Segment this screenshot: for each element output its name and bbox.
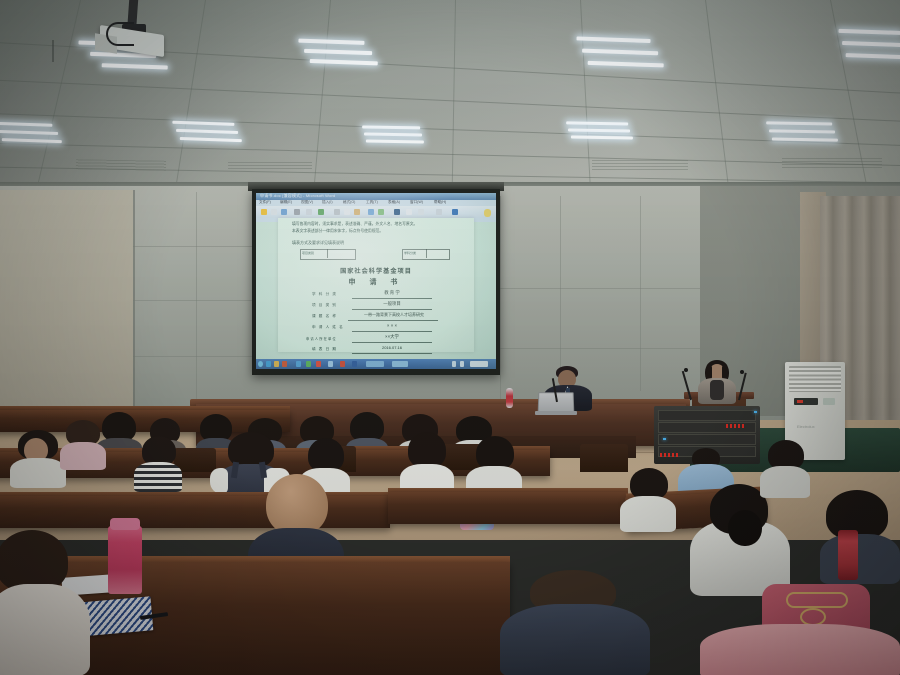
start-button-icon[interactable] bbox=[258, 361, 263, 367]
wall-seam bbox=[196, 192, 197, 432]
person-torso bbox=[700, 624, 900, 675]
bottle-cap bbox=[110, 518, 140, 530]
doc-paragraph-1: 填写各项内容时，须实事求是，表述准确、严谨。外文人名、地名写原文。 bbox=[292, 222, 462, 227]
tray-icon-volume[interactable] bbox=[460, 361, 464, 367]
person-hair bbox=[0, 530, 68, 592]
person-hair bbox=[408, 432, 446, 468]
print-icon[interactable] bbox=[294, 209, 300, 215]
ceiling-light-panel bbox=[362, 125, 428, 146]
form-box-left-label: 项目类别 bbox=[302, 251, 314, 255]
person-torso bbox=[620, 496, 676, 532]
word-title-bar: 申请书.doc [兼容模式] - Microsoft Word bbox=[256, 193, 496, 200]
taskbar-icon-app[interactable] bbox=[328, 361, 333, 367]
taskbar-icon-folder[interactable] bbox=[274, 361, 279, 367]
person-torso bbox=[10, 458, 66, 488]
clippy-icon[interactable] bbox=[484, 209, 491, 217]
foreground-person-far-right bbox=[700, 624, 900, 675]
doc-instruction-line: 填表方式及要求详见填表说明 bbox=[292, 240, 344, 246]
menu-item-table[interactable]: 表格(A) bbox=[388, 200, 400, 205]
windows-taskbar[interactable] bbox=[256, 359, 496, 369]
ceiling-air-vent bbox=[782, 158, 882, 168]
menu-item-file[interactable]: 文件(F) bbox=[259, 200, 271, 205]
columns-icon[interactable] bbox=[418, 209, 424, 215]
av-rack-slot bbox=[658, 410, 756, 421]
ceiling-light-panel bbox=[298, 39, 381, 72]
copy-icon[interactable] bbox=[344, 209, 350, 215]
table-icon[interactable] bbox=[406, 209, 412, 215]
av-power-led bbox=[754, 411, 757, 413]
form-field-value: 2016.07.16 bbox=[354, 345, 430, 350]
ac-vent-grille bbox=[789, 366, 841, 392]
ceiling-light-panel bbox=[766, 121, 842, 146]
left-wall-panel bbox=[0, 190, 133, 440]
pink-water-bottle bbox=[108, 526, 142, 594]
person-striped-top bbox=[134, 462, 182, 492]
word-document-page: 填写各项内容时，须实事求是，表述准确、严谨。外文人名、地名写原文。 本表文字表述… bbox=[278, 218, 474, 352]
form-box-right-label: 学科分类 bbox=[404, 251, 416, 255]
person-torso bbox=[500, 604, 650, 675]
audience-person bbox=[760, 440, 810, 496]
cut-icon[interactable] bbox=[334, 209, 340, 215]
ceiling-light-panel bbox=[0, 122, 64, 148]
drawing-icon[interactable] bbox=[436, 209, 442, 215]
audience-person bbox=[134, 436, 182, 490]
tray-icon-clock[interactable] bbox=[470, 361, 488, 367]
audience-person bbox=[10, 430, 66, 486]
form-field-label: 课 题 名 称 bbox=[312, 314, 337, 319]
person-hair bbox=[308, 438, 344, 472]
taskbar-icon-doc[interactable] bbox=[366, 361, 384, 367]
ac-brand-label: Electrolux bbox=[797, 424, 815, 429]
form-field-rule bbox=[352, 298, 432, 299]
person-bald-head bbox=[266, 474, 328, 536]
form-field-value: 一般项目 bbox=[354, 301, 430, 307]
form-field-value: 一带一路背景下高校人才培养研究 bbox=[348, 312, 440, 318]
microphone-head bbox=[684, 368, 688, 372]
menu-item-help[interactable]: 帮助(H) bbox=[434, 200, 446, 205]
taskbar-icon-ie[interactable] bbox=[266, 361, 271, 367]
ceiling-air-vent bbox=[76, 159, 166, 171]
laptop-base bbox=[535, 411, 577, 415]
taskbar-icon-chrome[interactable] bbox=[306, 361, 311, 367]
menu-item-format[interactable]: 格式(O) bbox=[343, 200, 355, 205]
form-field-rule bbox=[352, 331, 432, 332]
audience-person bbox=[690, 484, 790, 594]
form-field-rule bbox=[352, 342, 432, 343]
handbag-clasp bbox=[786, 592, 848, 608]
ceiling-light-panel bbox=[575, 36, 668, 73]
av-power-led bbox=[663, 438, 666, 440]
form-box-divider bbox=[426, 249, 427, 258]
open-icon[interactable] bbox=[271, 209, 277, 215]
av-led-display bbox=[660, 453, 678, 457]
microphone-head bbox=[740, 370, 744, 374]
taskbar-icon-qq[interactable] bbox=[316, 361, 321, 367]
taskbar-icon-browser[interactable] bbox=[296, 361, 301, 367]
person-hair bbox=[476, 436, 514, 470]
lecture-hall-photo: 申请书.doc [兼容模式] - Microsoft Word 文件(F) 编辑… bbox=[0, 0, 900, 675]
person-torso bbox=[0, 584, 90, 675]
projector-icon bbox=[92, 10, 164, 52]
doc-title-line1: 国家社会科学基金项目 bbox=[278, 266, 474, 275]
ceiling-light-panel bbox=[566, 121, 636, 144]
water-bottle-on-podium bbox=[506, 388, 513, 408]
desk-row bbox=[388, 492, 628, 524]
projector-cable bbox=[52, 40, 54, 62]
form-field-label: 学 科 分 类 bbox=[312, 292, 337, 297]
menu-item-edit[interactable]: 编辑(E) bbox=[280, 200, 292, 205]
save-icon[interactable] bbox=[281, 209, 287, 215]
new-doc-icon[interactable] bbox=[261, 209, 267, 215]
audience-person bbox=[400, 432, 454, 496]
form-field-label: 申 请 人 姓 名 bbox=[312, 325, 344, 330]
wall-seam bbox=[133, 300, 255, 301]
menu-item-insert[interactable]: 插入(I) bbox=[322, 200, 333, 205]
wall-seam bbox=[133, 356, 255, 357]
form-field-label: 项 目 类 别 bbox=[312, 303, 337, 308]
menu-item-tools[interactable]: 工具(T) bbox=[366, 200, 378, 205]
taskbar-icon-doc2[interactable] bbox=[392, 361, 408, 367]
form-field-value: × × × bbox=[354, 323, 430, 328]
spellcheck-icon[interactable] bbox=[318, 209, 324, 215]
ac-control-button[interactable] bbox=[823, 398, 835, 405]
doc-paragraph-2: 本表文字表述部分一律用宋体字，标点符号使用规范。 bbox=[292, 229, 462, 234]
taskbar-icon-word[interactable] bbox=[352, 361, 357, 367]
zoom-icon[interactable] bbox=[394, 209, 400, 215]
word-toolbar bbox=[256, 206, 496, 218]
av-rack-slot bbox=[658, 434, 756, 445]
speaker-inner-top bbox=[710, 380, 724, 400]
paste-icon[interactable] bbox=[354, 209, 360, 215]
audience-person bbox=[60, 420, 106, 468]
wall-seam bbox=[133, 190, 135, 435]
ceiling-light-panel bbox=[837, 29, 900, 65]
form-field-label: 申请人所在单位 bbox=[306, 336, 337, 341]
person-white-blouse bbox=[210, 468, 228, 494]
wall-seam bbox=[133, 246, 255, 247]
form-field-value: ××大学 bbox=[354, 334, 430, 340]
red-thermos bbox=[838, 530, 858, 580]
doc-title-line2: 申 请 书 bbox=[278, 277, 474, 287]
form-box-divider bbox=[327, 249, 328, 258]
word-title-text: 申请书.doc [兼容模式] - Microsoft Word bbox=[260, 193, 335, 199]
foreground-person-left bbox=[0, 530, 90, 675]
form-field-value: 教 育 学 bbox=[354, 290, 430, 296]
tray-icon-network[interactable] bbox=[452, 361, 456, 367]
ceiling-light-panel bbox=[172, 121, 245, 147]
form-field-rule bbox=[352, 309, 432, 310]
taskbar-icon-pdf[interactable] bbox=[340, 361, 345, 367]
menu-item-view[interactable]: 视图(V) bbox=[301, 200, 313, 205]
ceiling-air-vent bbox=[228, 162, 312, 171]
wall-seam bbox=[500, 196, 501, 406]
person-ponytail bbox=[728, 510, 762, 546]
redo-icon[interactable] bbox=[378, 209, 384, 215]
form-field-rule bbox=[348, 320, 438, 321]
person-torso bbox=[820, 534, 900, 584]
form-field-rule bbox=[352, 353, 432, 354]
standing-speaker bbox=[694, 360, 740, 406]
undo-icon[interactable] bbox=[368, 209, 374, 215]
av-led-display bbox=[726, 424, 744, 428]
ceiling-air-vent bbox=[592, 160, 688, 170]
preview-icon[interactable] bbox=[306, 209, 312, 215]
person-torso bbox=[760, 466, 810, 498]
projection-screen: 申请书.doc [兼容模式] - Microsoft Word 文件(F) 编辑… bbox=[256, 193, 496, 369]
audience-person bbox=[620, 468, 676, 530]
person-torso bbox=[60, 442, 106, 470]
foreground-person-right bbox=[500, 570, 650, 675]
form-field-label: 填 表 日 期 bbox=[312, 347, 337, 352]
help-icon[interactable] bbox=[452, 209, 458, 215]
ac-display-panel bbox=[794, 398, 818, 405]
audience-person bbox=[820, 490, 900, 582]
menu-item-window[interactable]: 窗口(W) bbox=[410, 200, 423, 205]
taskbar-icon-media[interactable] bbox=[282, 361, 287, 367]
wall-seam bbox=[640, 196, 641, 391]
